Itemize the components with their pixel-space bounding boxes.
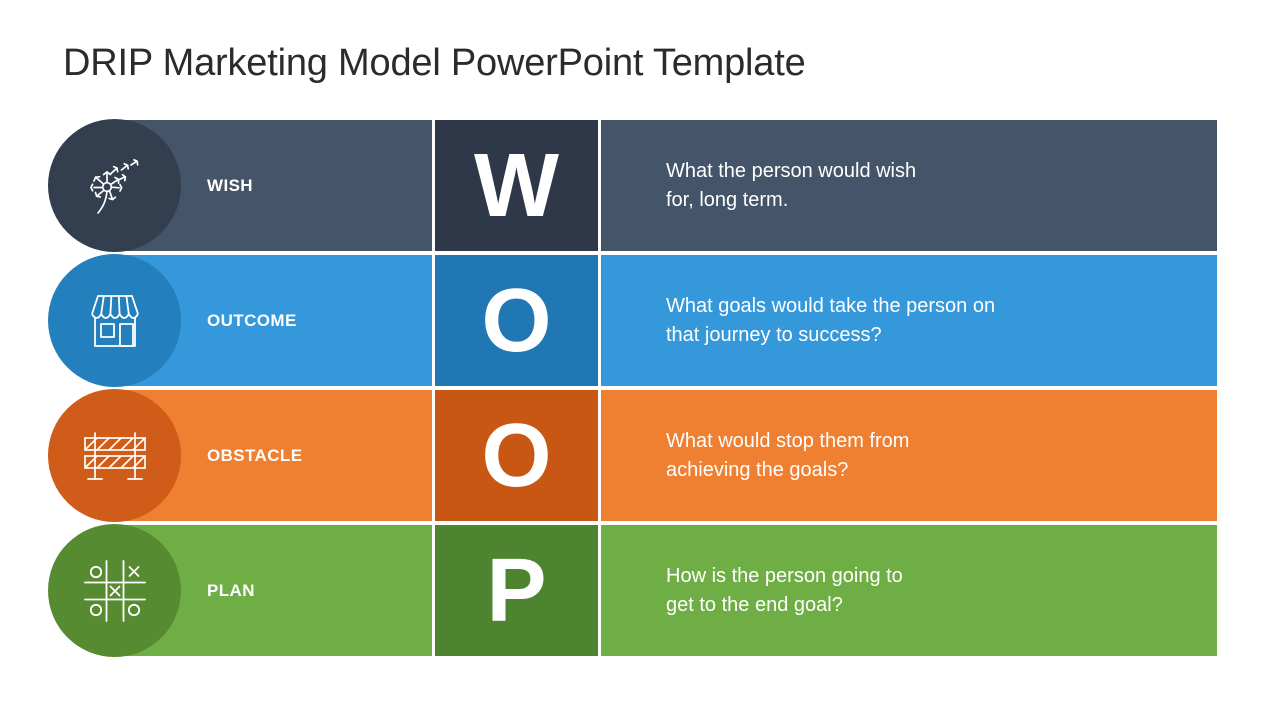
divider-left-wish <box>432 120 435 251</box>
row-description-wish: What the person would wish for, long ter… <box>666 157 916 215</box>
icon-circle-outcome <box>48 254 181 387</box>
letter-obstacle: O <box>481 411 550 501</box>
description-line-2: get to the end goal? <box>666 591 903 620</box>
icon-circle-wish <box>48 119 181 252</box>
row-wish[interactable]: WISH <box>48 120 1217 251</box>
dandelion-icon <box>78 149 152 223</box>
divider-right-wish <box>598 120 601 251</box>
icon-circle-plan <box>48 524 181 657</box>
row-description-outcome: What goals would take the person on that… <box>666 292 995 350</box>
description-band-obstacle: What would stop them from achieving the … <box>600 390 1217 521</box>
row-label-wish: WISH <box>207 176 253 196</box>
road-barrier-icon <box>77 423 153 489</box>
row-label-plan: PLAN <box>207 581 255 601</box>
letter-plan: P <box>486 546 545 636</box>
divider-left-plan <box>432 525 435 656</box>
letter-tile-obstacle: O <box>434 390 598 521</box>
row-plan[interactable]: PLAN <box>48 525 1217 656</box>
divider-left-outcome <box>432 255 435 386</box>
description-band-plan: How is the person going to get to the en… <box>600 525 1217 656</box>
description-band-wish: What the person would wish for, long ter… <box>600 120 1217 251</box>
page-title: DRIP Marketing Model PowerPoint Template <box>63 42 806 85</box>
description-line-2: achieving the goals? <box>666 456 909 485</box>
row-description-obstacle: What would stop them from achieving the … <box>666 427 909 485</box>
slide: DRIP Marketing Model PowerPoint Template… <box>0 0 1280 720</box>
description-line-1: What would stop them from <box>666 427 909 456</box>
letter-wish: W <box>474 141 558 231</box>
row-outcome[interactable]: OUTCOME <box>48 255 1217 386</box>
description-line-2: for, long term. <box>666 186 916 215</box>
description-band-outcome: What goals would take the person on that… <box>600 255 1217 386</box>
description-line-1: What the person would wish <box>666 157 916 186</box>
divider-right-outcome <box>598 255 601 386</box>
description-line-1: How is the person going to <box>666 562 903 591</box>
letter-tile-wish: W <box>434 120 598 251</box>
letter-tile-outcome: O <box>434 255 598 386</box>
description-line-2: that journey to success? <box>666 321 995 350</box>
icon-circle-obstacle <box>48 389 181 522</box>
row-description-plan: How is the person going to get to the en… <box>666 562 903 620</box>
divider-left-obstacle <box>432 390 435 521</box>
divider-right-plan <box>598 525 601 656</box>
row-label-obstacle: OBSTACLE <box>207 446 302 466</box>
letter-tile-plan: P <box>434 525 598 656</box>
storefront-icon <box>79 288 151 354</box>
letter-outcome: O <box>481 276 550 366</box>
row-obstacle[interactable]: OBSTACLE <box>48 390 1217 521</box>
tic-tac-toe-icon <box>81 557 149 625</box>
drip-model-diagram: WISH <box>48 120 1217 656</box>
row-label-outcome: OUTCOME <box>207 311 297 331</box>
description-line-1: What goals would take the person on <box>666 292 995 321</box>
divider-right-obstacle <box>598 390 601 521</box>
